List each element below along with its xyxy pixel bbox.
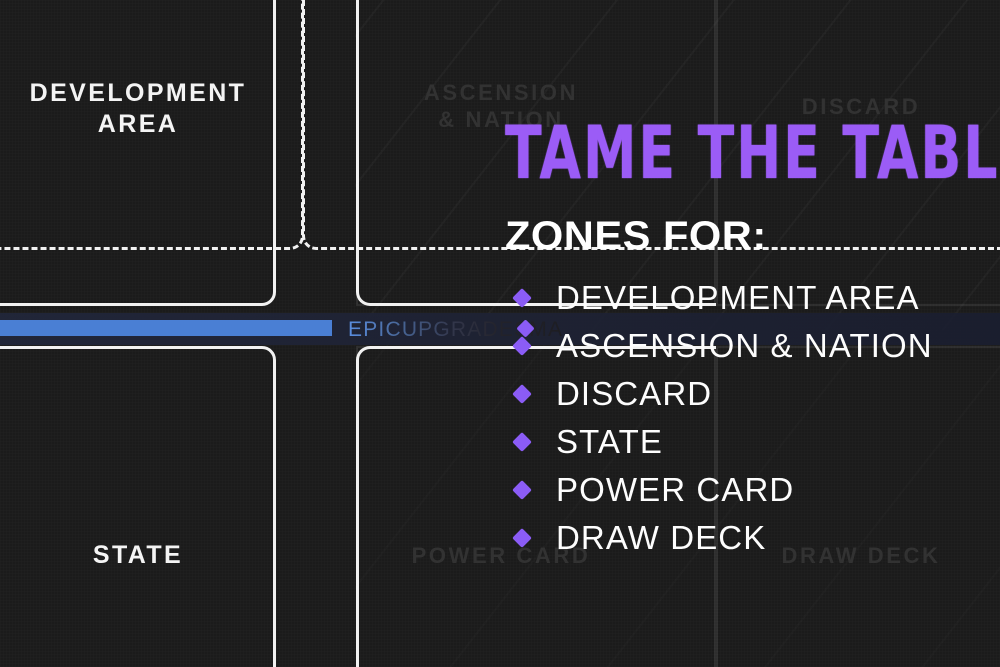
diamond-bullet-icon bbox=[512, 432, 532, 452]
board-zone-development-area-outline bbox=[0, 0, 276, 306]
list-item-label: POWER CARD bbox=[556, 471, 794, 509]
overlay-subtitle: ZONES FOR: bbox=[505, 216, 1000, 256]
list-item-label: STATE bbox=[556, 423, 663, 461]
diamond-bullet-icon bbox=[512, 384, 532, 404]
overlay-title: TAME THE TABLE bbox=[505, 118, 966, 191]
board-zone-state-outline bbox=[0, 346, 276, 667]
list-item: DISCARD bbox=[505, 370, 985, 418]
list-item: STATE bbox=[505, 418, 985, 466]
brand-bar-accent bbox=[0, 320, 332, 336]
list-item: DRAW DECK bbox=[505, 514, 985, 562]
list-item-label: DISCARD bbox=[556, 375, 712, 413]
tame-the-table-graphic: DEVELOPMENT AREA ASCENSION & NATION DISC… bbox=[0, 0, 1000, 667]
list-item: ASCENSION & NATION bbox=[505, 322, 985, 370]
diamond-bullet-icon bbox=[512, 480, 532, 500]
list-item-label: DEVELOPMENT AREA bbox=[556, 279, 920, 317]
overlay-panel: TAME THE TABLE ZONES FOR: DEVELOPMENT AR… bbox=[505, 118, 985, 562]
diamond-bullet-icon bbox=[512, 288, 532, 308]
list-item: POWER CARD bbox=[505, 466, 985, 514]
list-item-label: ASCENSION & NATION bbox=[556, 327, 933, 365]
overlay-zone-list: DEVELOPMENT AREA ASCENSION & NATION DISC… bbox=[505, 274, 985, 562]
list-item-label: DRAW DECK bbox=[556, 519, 766, 557]
diamond-bullet-icon bbox=[512, 528, 532, 548]
diamond-bullet-icon bbox=[512, 336, 532, 356]
list-item: DEVELOPMENT AREA bbox=[505, 274, 985, 322]
